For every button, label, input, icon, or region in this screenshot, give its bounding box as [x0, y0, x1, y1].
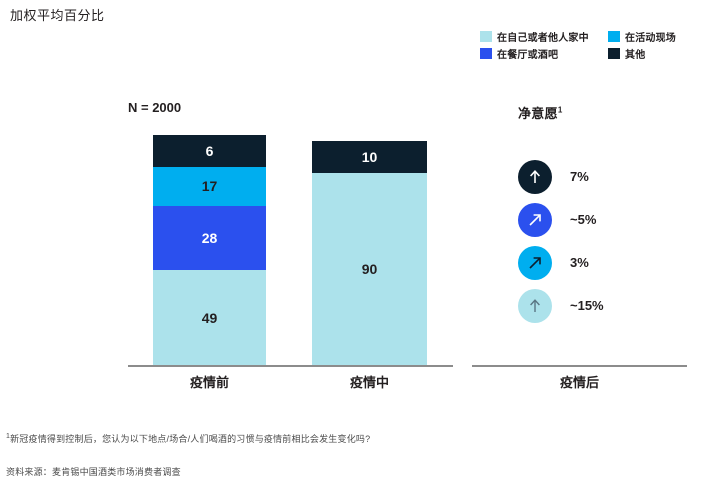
net-intent-row-at-home[interactable]: ~15%: [518, 284, 678, 327]
legend-label-at-home: 在自己或者他人家中: [497, 29, 589, 44]
legend-swatch-at-home: [480, 31, 492, 42]
bar-value-restaurants-bars: 28: [202, 231, 218, 245]
bar-segment-at-events[interactable]: 17: [153, 167, 266, 206]
net-intent-title: 净意愿1: [518, 103, 563, 122]
footnote-question: 1新冠疫情得到控制后，您认为以下地点/场合/人们喝酒的习惯与疫情前相比会发生变化…: [6, 432, 370, 445]
bar-segment-restaurants-bars[interactable]: 28: [153, 206, 266, 270]
bar-segment-at-home[interactable]: 49: [153, 270, 266, 365]
category-label-pre-pandemic: 疫情前: [153, 372, 266, 391]
category-label-during-pandemic: 疫情中: [312, 372, 427, 391]
legend-label-at-events: 在活动现场: [625, 29, 676, 44]
legend-item-at-events[interactable]: 在活动现场: [608, 29, 718, 44]
net-intent-value-at-home: ~15%: [570, 298, 604, 313]
bar-value-other: 6: [206, 144, 214, 158]
net-intent-row-at-events[interactable]: 3%: [518, 241, 678, 284]
net-intent-value-at-events: 3%: [570, 255, 589, 270]
arrow-up-right-icon-2: [518, 246, 552, 280]
net-intent-row-other[interactable]: 7%: [518, 155, 678, 198]
axis-line-main: [128, 365, 453, 367]
legend-swatch-restaurants-bars: [480, 48, 492, 59]
stacked-bar-during-pandemic[interactable]: 10 90: [312, 141, 427, 365]
axis-line-right: [472, 365, 687, 367]
bar-value-at-events: 17: [202, 179, 218, 193]
arrow-up-right-icon: [518, 203, 552, 237]
legend-label-other: 其他: [625, 46, 645, 61]
net-intent-title-text: 净意愿: [518, 106, 558, 121]
stacked-bar-pre-pandemic[interactable]: 6 17 28 49: [153, 135, 266, 365]
bar-value-at-home: 49: [202, 311, 218, 325]
net-intent-value-other: 7%: [570, 169, 589, 184]
legend-swatch-at-events: [608, 31, 620, 42]
legend-item-other[interactable]: 其他: [608, 46, 718, 61]
bar-segment-other[interactable]: 6: [153, 135, 266, 167]
bar-segment-at-home-2[interactable]: 90: [312, 173, 427, 365]
legend-swatch-other: [608, 48, 620, 59]
bar-segment-other-2[interactable]: 10: [312, 141, 427, 173]
page-title: 加权平均百分比: [10, 5, 105, 24]
chart-legend: 在自己或者他人家中 在活动现场 在餐厅或酒吧 其他: [480, 28, 718, 62]
sample-size-label: N = 2000: [128, 100, 181, 115]
legend-item-at-home[interactable]: 在自己或者他人家中: [480, 29, 608, 44]
bar-value-at-home-2: 90: [362, 262, 378, 276]
legend-label-restaurants-bars: 在餐厅或酒吧: [497, 46, 558, 61]
arrow-up-icon-2: [518, 289, 552, 323]
arrow-up-icon: [518, 160, 552, 194]
net-intent-list: 7% ~5% 3% ~15%: [518, 155, 678, 327]
net-intent-row-restaurants-bars[interactable]: ~5%: [518, 198, 678, 241]
net-intent-title-superscript: 1: [558, 106, 563, 115]
footnote-source: 资料来源：麦肯锡中国酒类市场消费者调查: [6, 465, 181, 478]
category-label-post-pandemic: 疫情后: [472, 372, 687, 391]
legend-item-restaurants-bars[interactable]: 在餐厅或酒吧: [480, 46, 608, 61]
net-intent-value-restaurants-bars: ~5%: [570, 212, 596, 227]
bar-value-other-2: 10: [362, 150, 378, 164]
footnote-question-text: 新冠疫情得到控制后，您认为以下地点/场合/人们喝酒的习惯与疫情前相比会发生变化吗…: [10, 434, 370, 444]
